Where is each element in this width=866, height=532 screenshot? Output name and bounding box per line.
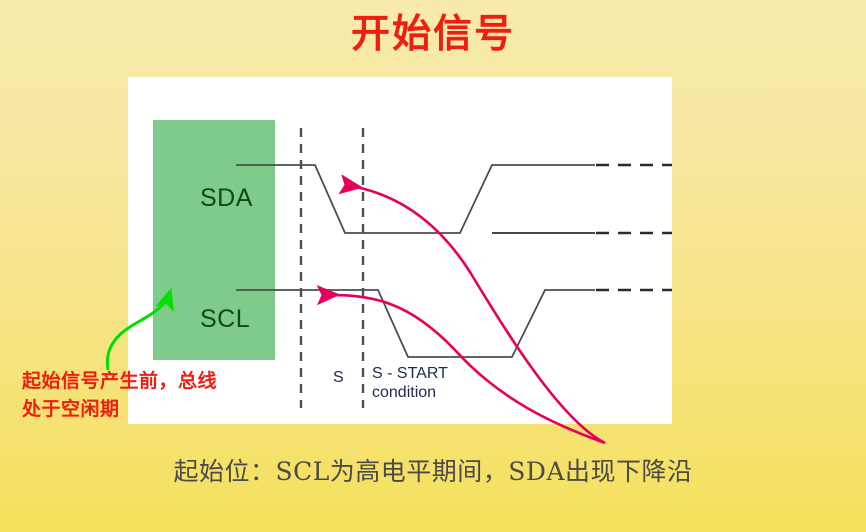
red-annotation-note: 起始信号产生前，总线 处于空闲期: [22, 367, 272, 423]
start-marker-label: S: [333, 369, 344, 387]
start-condition-legend: S - START condition: [372, 364, 448, 402]
signal-label-scl: SCL: [200, 305, 250, 334]
start-condition-line1: S - START: [372, 364, 448, 383]
page-title: 开始信号: [0, 10, 866, 58]
red-note-line2: 处于空闲期: [22, 395, 272, 423]
red-note-line1: 起始信号产生前，总线: [22, 367, 272, 395]
slide-caption: 起始位：SCL为高电平期间，SDA出现下降沿: [0, 452, 866, 488]
slide-canvas: 开始信号 SDA SCL: [0, 0, 866, 532]
start-condition-line2: condition: [372, 383, 448, 402]
signal-label-sda: SDA: [200, 184, 253, 213]
